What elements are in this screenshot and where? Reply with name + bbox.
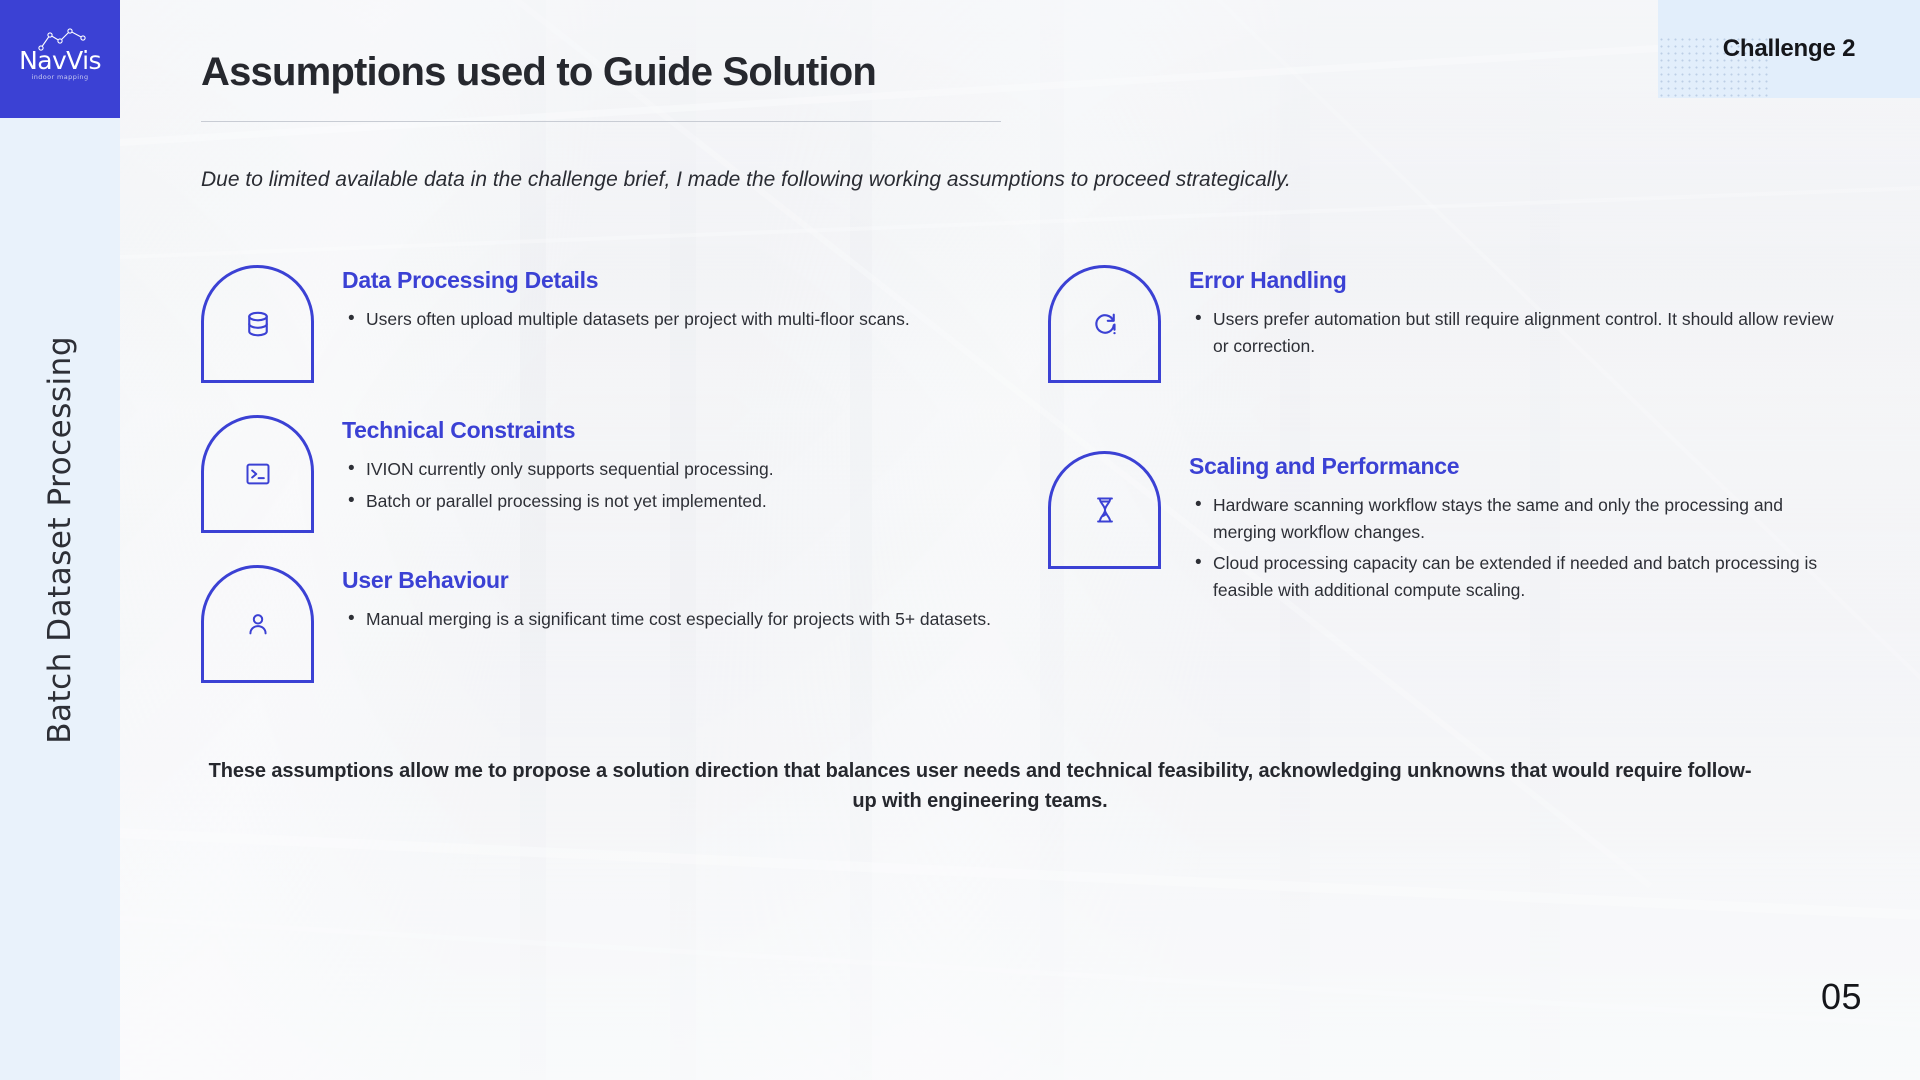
- assumption-body: Scaling and Performance Hardware scannin…: [1189, 451, 1848, 608]
- assumption-heading: Technical Constraints: [342, 417, 1021, 444]
- icon-frame: [201, 415, 314, 533]
- assumption-block: Error Handling Users prefer automation b…: [1048, 265, 1848, 383]
- refresh-alert-icon: [1090, 309, 1120, 339]
- logo-block[interactable]: NavVis indoor mapping: [0, 0, 120, 118]
- assumption-heading: Scaling and Performance: [1189, 453, 1848, 480]
- assumption-bullets: Users often upload multiple datasets per…: [342, 306, 1021, 333]
- assumptions-column-left: Data Processing Details Users often uplo…: [201, 265, 1021, 683]
- logo-wordmark: NavVis: [12, 46, 108, 75]
- title-divider: [201, 121, 1001, 122]
- assumption-bullets: Hardware scanning workflow stays the sam…: [1189, 492, 1848, 603]
- bullet-item: Users prefer automation but still requir…: [1189, 306, 1848, 359]
- assumption-bullets: IVION currently only supports sequential…: [342, 456, 1021, 514]
- logo-tagline: indoor mapping: [12, 73, 108, 81]
- user-icon: [244, 610, 272, 638]
- terminal-icon: [244, 460, 272, 488]
- left-rail: Batch Dataset Processing NavVis indoor m…: [0, 0, 120, 1080]
- icon-frame: [201, 565, 314, 683]
- bullet-item: Manual merging is a significant time cos…: [342, 606, 1021, 633]
- assumption-bullets: Users prefer automation but still requir…: [1189, 306, 1848, 359]
- page-title: Assumptions used to Guide Solution: [201, 50, 876, 95]
- challenge-badge-label: Challenge 2: [1723, 35, 1856, 63]
- slide-canvas: Batch Dataset Processing NavVis indoor m…: [0, 0, 1920, 1080]
- bullet-item: Cloud processing capacity can be extende…: [1189, 550, 1848, 603]
- bullet-item: Batch or parallel processing is not yet …: [342, 488, 1021, 515]
- rail-vertical-label: Batch Dataset Processing: [42, 336, 78, 744]
- assumptions-column-right: Error Handling Users prefer automation b…: [1048, 265, 1848, 608]
- assumption-heading: User Behaviour: [342, 567, 1021, 594]
- assumption-block: User Behaviour Manual merging is a signi…: [201, 565, 1021, 683]
- logo-wrap: NavVis indoor mapping: [12, 28, 108, 90]
- icon-frame: [1048, 451, 1161, 569]
- assumption-block: Technical Constraints IVION currently on…: [201, 415, 1021, 533]
- assumption-heading: Data Processing Details: [342, 267, 1021, 294]
- database-icon: [243, 309, 273, 339]
- assumption-body: Error Handling Users prefer automation b…: [1189, 265, 1848, 364]
- assumption-block: Scaling and Performance Hardware scannin…: [1048, 451, 1848, 608]
- icon-frame: [201, 265, 314, 383]
- icon-frame: [1048, 265, 1161, 383]
- bullet-item: IVION currently only supports sequential…: [342, 456, 1021, 483]
- assumption-block: Data Processing Details Users often uplo…: [201, 265, 1021, 383]
- assumption-body: Data Processing Details Users often uplo…: [342, 265, 1021, 338]
- challenge-badge: Challenge 2: [1658, 0, 1920, 98]
- bullet-item: Hardware scanning workflow stays the sam…: [1189, 492, 1848, 545]
- assumption-heading: Error Handling: [1189, 267, 1848, 294]
- conclusion-text: These assumptions allow me to propose a …: [200, 757, 1760, 816]
- assumption-body: User Behaviour Manual merging is a signi…: [342, 565, 1021, 638]
- assumption-bullets: Manual merging is a significant time cos…: [342, 606, 1021, 633]
- assumption-body: Technical Constraints IVION currently on…: [342, 415, 1021, 519]
- hourglass-icon: [1091, 495, 1119, 525]
- bullet-item: Users often upload multiple datasets per…: [342, 306, 1021, 333]
- page-subtitle: Due to limited available data in the cha…: [201, 165, 1381, 195]
- rail-vertical-label-wrap: Batch Dataset Processing: [0, 0, 120, 1080]
- page-number: 05: [1821, 976, 1862, 1018]
